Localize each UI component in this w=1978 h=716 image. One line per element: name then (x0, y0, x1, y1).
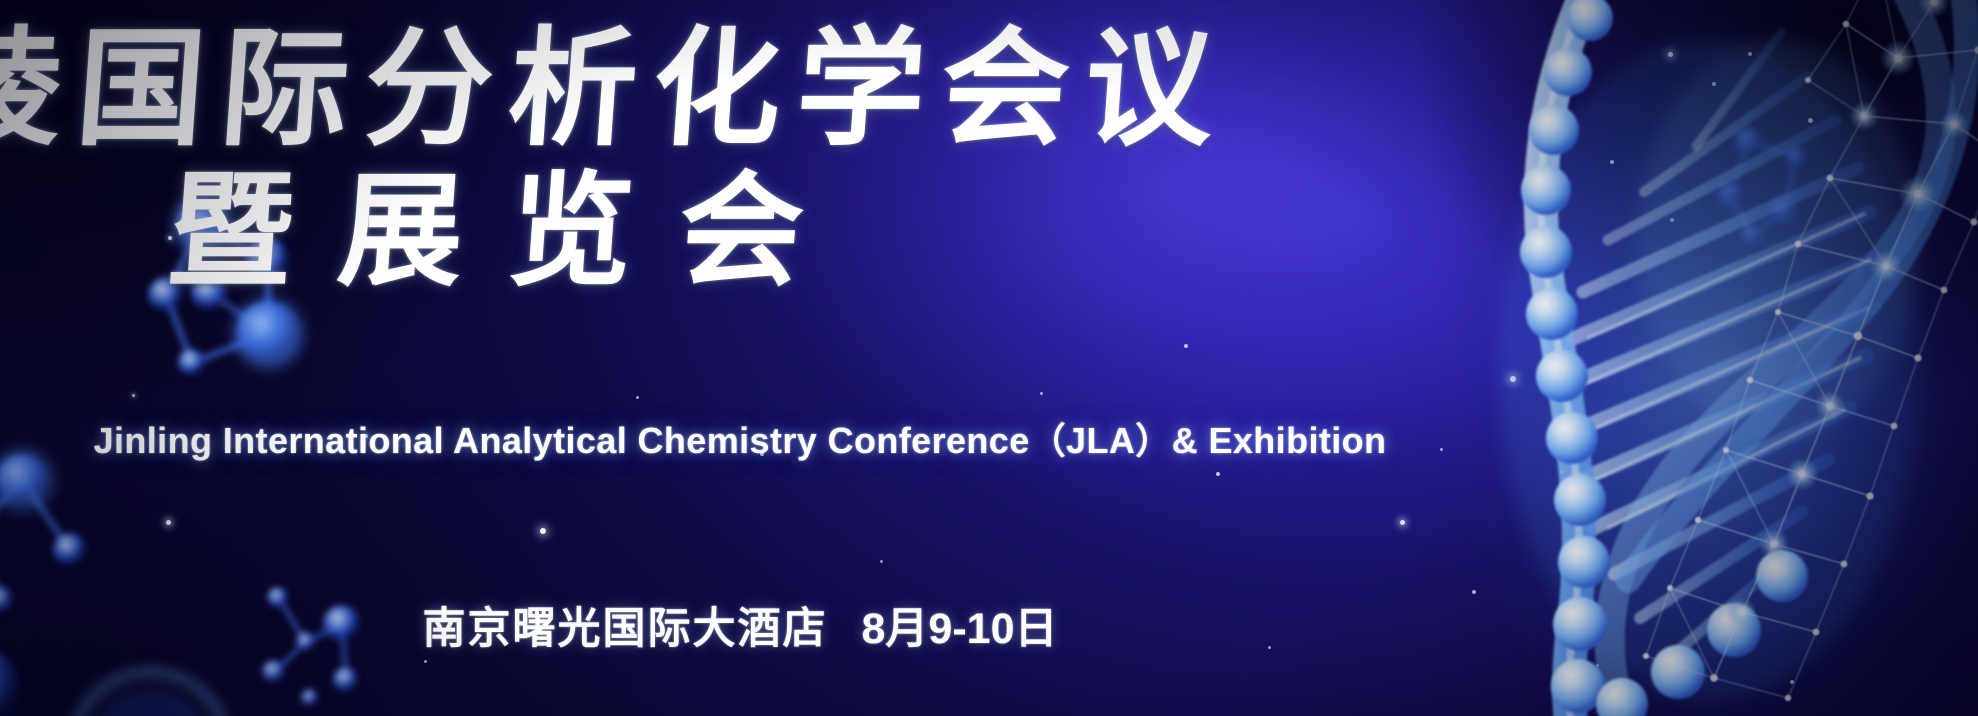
background-vignette (0, 0, 1978, 716)
conference-banner: 金陵国际分析化学会议 暨展览会 Jinling International An… (0, 0, 1978, 716)
